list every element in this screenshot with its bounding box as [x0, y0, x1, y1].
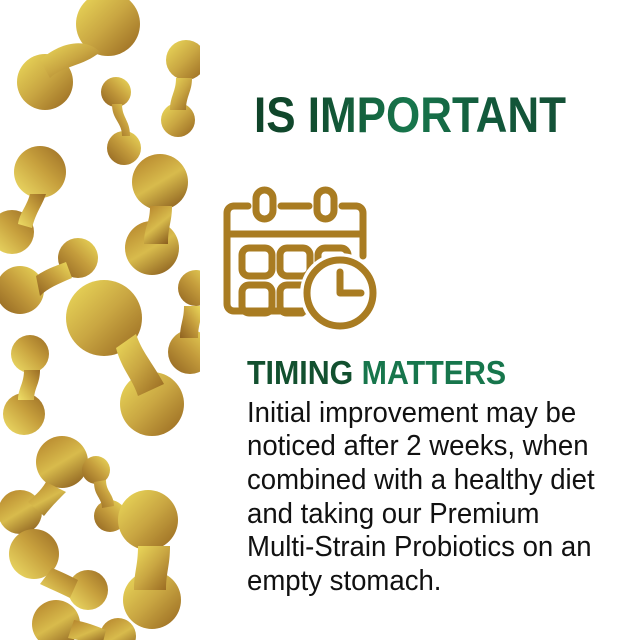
poster-canvas: CONSISTENCY IS IMPORTANT	[0, 0, 640, 640]
section-heading-word-b: MATTERS	[362, 354, 506, 391]
calendar-clock-icon	[222, 186, 390, 336]
copy-block: TIMING MATTERS Initial improvement may b…	[247, 356, 627, 598]
headline-block: CONSISTENCY IS IMPORTANT	[190, 18, 630, 140]
page-title: CONSISTENCY	[221, 18, 599, 86]
gold-molecule-pattern	[0, 0, 200, 640]
body-paragraph: Initial improvement may be noticed after…	[247, 397, 608, 599]
page-subtitle: IS IMPORTANT	[216, 90, 603, 140]
section-heading: TIMING MATTERS	[247, 356, 597, 391]
section-heading-word-a: TIMING	[247, 354, 353, 391]
